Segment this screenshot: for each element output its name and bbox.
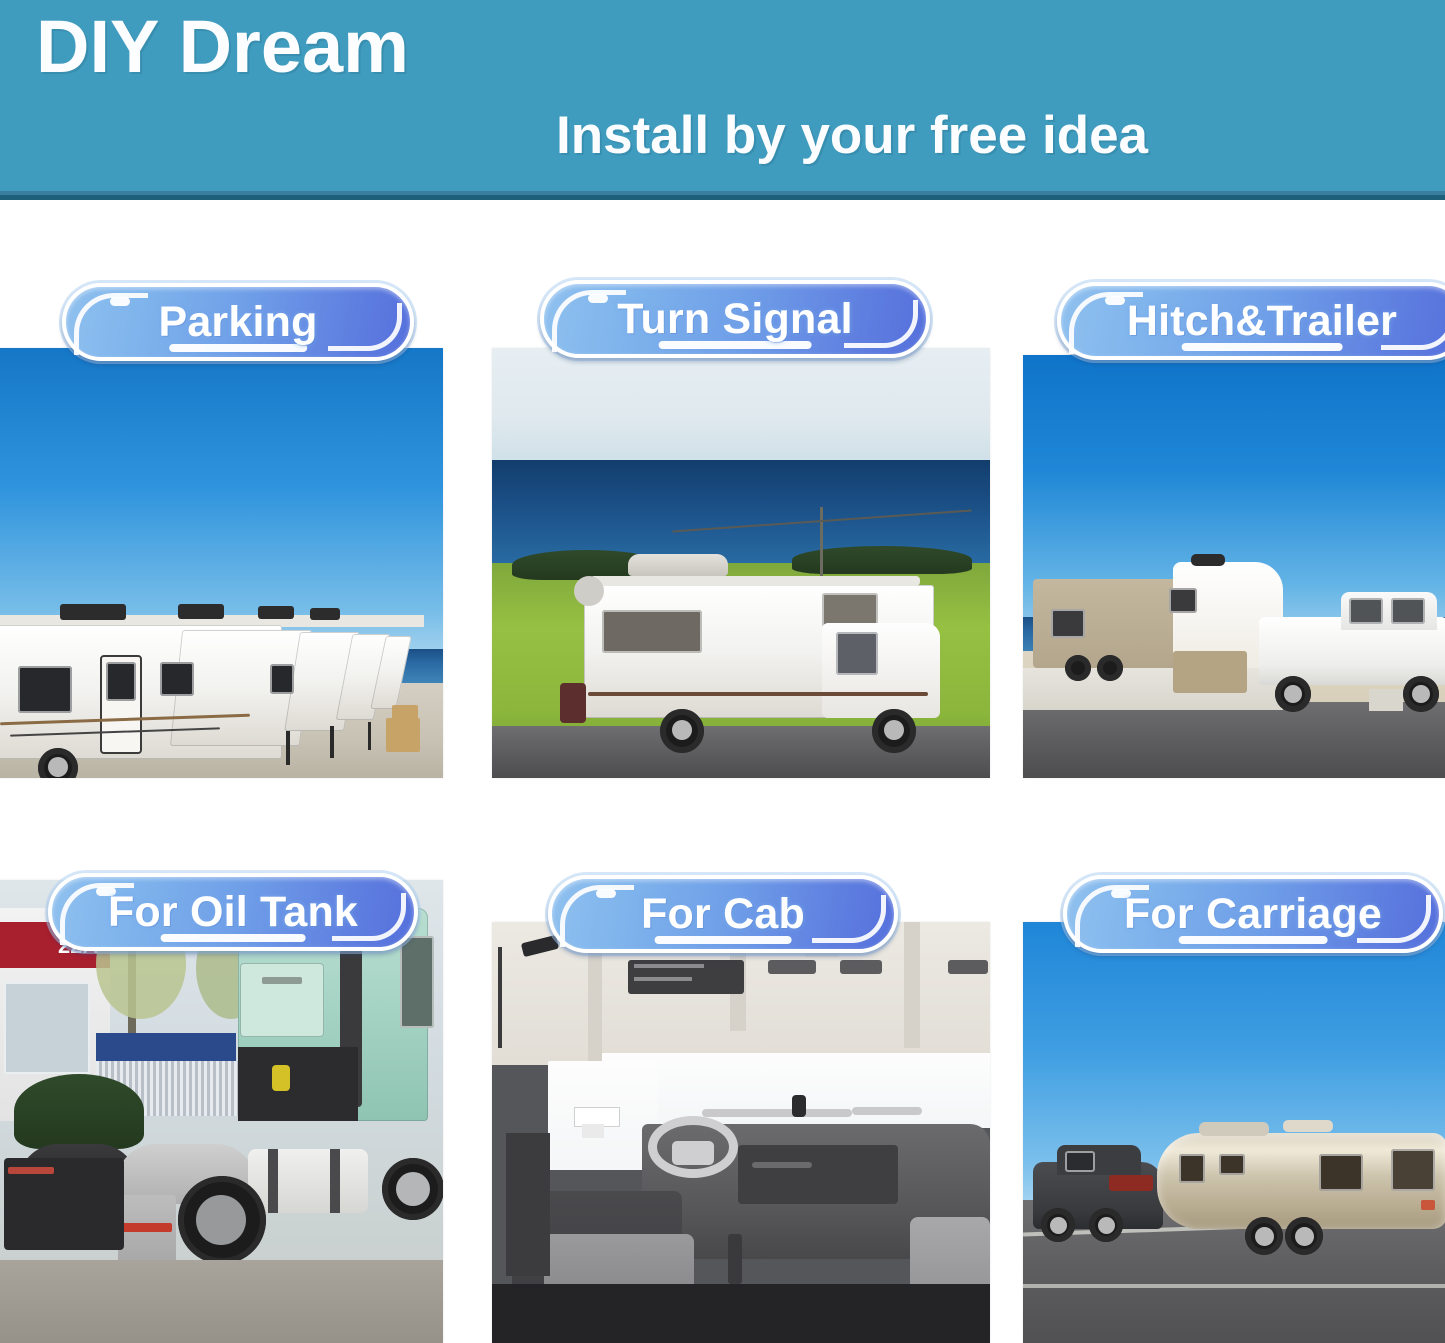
badge-gloss-dot-icon [588, 294, 608, 303]
badge-for-oil-tank[interactable]: For Oil Tank [48, 873, 418, 951]
badge-gloss-dot-icon [110, 297, 130, 306]
badge-parking[interactable]: Parking [62, 283, 414, 361]
badge-hitch-trailer[interactable]: Hitch&Trailer [1057, 282, 1445, 360]
banner-header: DIY Dream Install by your free idea [0, 0, 1445, 200]
badge-for-carriage[interactable]: For Carriage [1063, 875, 1443, 953]
grid-cell-parking: Parking [0, 200, 470, 790]
page-title: DIY Dream [36, 8, 409, 86]
photo-fifth-wheel-trailer-with-white-pickup-truck [1023, 355, 1445, 778]
badge-label: For Oil Tank [108, 891, 358, 934]
grid-cell-turn-signal: Turn Signal [480, 200, 1010, 790]
badge-for-cab[interactable]: For Cab [548, 875, 898, 953]
badge-label: Turn Signal [617, 298, 853, 341]
badge-gloss-arc-br-icon [812, 895, 886, 943]
header-divider [0, 191, 1445, 195]
page-subtitle: Install by your free idea [556, 105, 1148, 166]
badge-label: Hitch&Trailer [1127, 300, 1397, 343]
grid-cell-for-carriage: For Carriage [1015, 790, 1445, 1343]
photo-airstream-trailer-towed-by-dark-suv [1023, 922, 1445, 1343]
grid-cell-for-cab: For Cab [480, 790, 1010, 1343]
grid-cell-hitch-trailer: Hitch&Trailer [1015, 200, 1445, 790]
badge-turn-signal[interactable]: Turn Signal [540, 280, 930, 358]
badge-label: Parking [158, 301, 317, 344]
badge-label: For Cab [641, 893, 805, 936]
photo-truck-cab-interior-with-steering-wheel-and-dashboard [492, 922, 990, 1343]
product-feature-banner: DIY Dream Install by your free idea [0, 0, 1445, 1343]
photo-row-of-white-travel-trailers-at-seaside-lot [0, 348, 443, 778]
feature-grid: Parking [0, 200, 1445, 1343]
badge-gloss-arc-br-icon [844, 300, 918, 348]
grid-cell-for-oil-tank: 22A [0, 790, 470, 1343]
photo-class-c-motorhome-on-grass-overlooking-ocean [492, 348, 990, 778]
badge-gloss-dot-icon [596, 889, 616, 898]
badge-gloss-arc-br-icon [328, 303, 402, 351]
badge-gloss-dot-icon [1105, 296, 1125, 305]
badge-label: For Carriage [1124, 893, 1382, 936]
